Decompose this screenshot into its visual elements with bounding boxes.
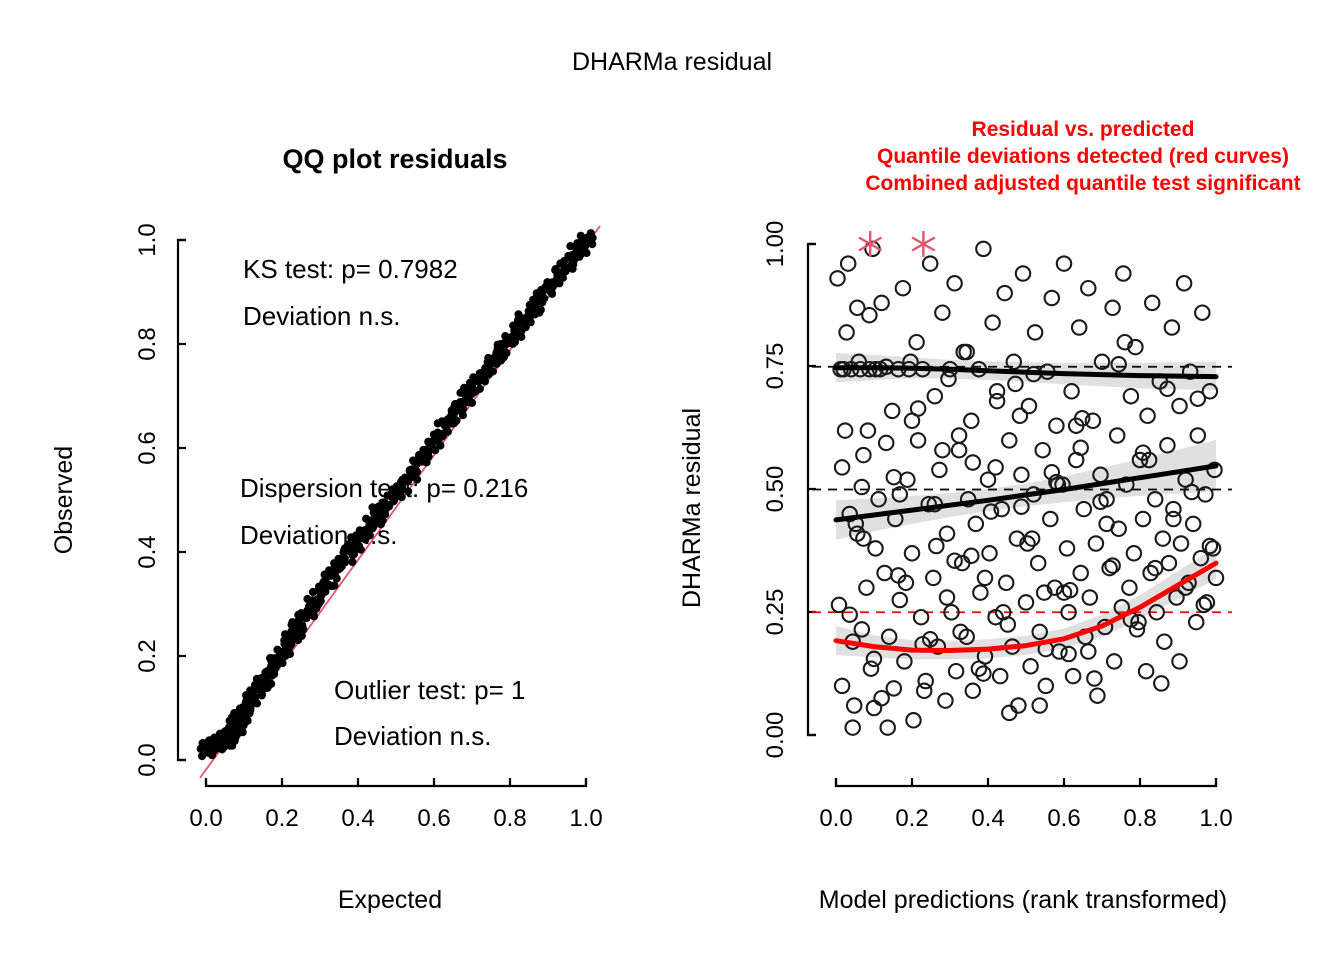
y-tick-label: 1.0: [134, 223, 161, 256]
x-tick-label: 0.6: [1047, 805, 1080, 832]
qq-point: [471, 378, 478, 385]
qq-point: [223, 736, 230, 743]
y-tick-label: 0.2: [134, 639, 161, 672]
qq-point: [577, 232, 584, 239]
x-tick-label: 1.0: [1199, 805, 1232, 832]
qq-panel-title: QQ plot residuals: [282, 144, 507, 174]
qq-point: [268, 680, 275, 687]
x-tick-label: 0.8: [493, 805, 526, 832]
qq-point: [434, 429, 441, 436]
x-tick-label: 0.4: [341, 805, 374, 832]
plot-canvas: DHARMa residual QQ plot residuals 0.00.2…: [0, 0, 1344, 960]
figure-title: DHARMa residual: [572, 48, 772, 76]
qq-xlabel: Expected: [338, 886, 442, 914]
y-tick-label: 0.25: [762, 589, 789, 636]
x-tick-label: 0.2: [265, 805, 298, 832]
y-tick-label: 0.50: [762, 466, 789, 513]
dispersion-test-line1: Dispersion test: p= 0.216: [240, 473, 528, 503]
x-tick-label: 0.6: [417, 805, 450, 832]
qq-point: [548, 288, 555, 295]
qq-point: [515, 319, 522, 326]
qq-point: [349, 558, 356, 565]
qq-point: [536, 309, 543, 316]
y-tick-label: 0.0: [134, 743, 161, 776]
qq-point: [271, 670, 278, 677]
qq-point: [349, 552, 356, 559]
x-tick-label: 0.4: [971, 805, 1004, 832]
residual-title-line3: Combined adjusted quantile test signific…: [865, 172, 1300, 195]
qq-point: [518, 328, 525, 335]
qq-point: [341, 559, 348, 566]
qq-point: [450, 409, 457, 416]
qq-point: [295, 617, 302, 624]
y-tick-label: 0.8: [134, 327, 161, 360]
dispersion-test-line2: Deviation n.s.: [240, 520, 398, 550]
qq-point: [486, 370, 493, 377]
qq-point: [583, 249, 590, 256]
qq-point: [288, 633, 295, 640]
qq-point: [411, 458, 418, 465]
qq-point: [309, 588, 316, 595]
x-tick-label: 1.0: [569, 805, 602, 832]
qq-point: [522, 316, 529, 323]
y-tick-label: 0.00: [762, 712, 789, 759]
qq-point: [576, 242, 583, 249]
residual-title-line1: Residual vs. predicted: [972, 118, 1195, 141]
ks-test-line2: Deviation n.s.: [243, 301, 401, 331]
y-tick-label: 0.75: [762, 343, 789, 390]
x-tick-label: 0.0: [189, 805, 222, 832]
qq-point: [262, 669, 269, 676]
x-tick-label: 0.2: [895, 805, 928, 832]
qq-ylabel: Observed: [50, 446, 78, 554]
qq-point: [515, 311, 522, 318]
qq-point: [383, 505, 390, 512]
qq-point: [587, 230, 594, 237]
y-tick-label: 0.6: [134, 431, 161, 464]
y-tick-label: 0.4: [134, 535, 161, 568]
residual-title-line2: Quantile deviations detected (red curves…: [877, 145, 1289, 168]
qq-point: [299, 624, 306, 631]
qq-point: [375, 506, 382, 513]
ks-test-line1: KS test: p= 0.7982: [243, 254, 458, 284]
qq-point: [242, 716, 249, 723]
dharma-residual-figure: DHARMa residual QQ plot residuals 0.00.2…: [0, 0, 1344, 960]
x-tick-label: 0.8: [1123, 805, 1156, 832]
qq-point: [462, 388, 469, 395]
qq-point: [322, 580, 329, 587]
qq-point: [504, 339, 511, 346]
qq-point: [589, 241, 596, 248]
qq-point: [541, 295, 548, 302]
qq-point: [534, 294, 541, 301]
x-tick-label: 0.0: [819, 805, 852, 832]
qq-point: [430, 437, 437, 444]
qq-point: [331, 582, 338, 589]
residual-xlabel: Model predictions (rank transformed): [819, 886, 1228, 914]
qq-point: [252, 684, 259, 691]
outlier-test-line2: Deviation n.s.: [334, 721, 492, 751]
qq-point: [472, 388, 479, 395]
outlier-test-line1: Outlier test: p= 1: [334, 675, 525, 705]
residual-ylabel: DHARMa residual: [678, 408, 706, 608]
y-tick-label: 1.00: [762, 221, 789, 268]
